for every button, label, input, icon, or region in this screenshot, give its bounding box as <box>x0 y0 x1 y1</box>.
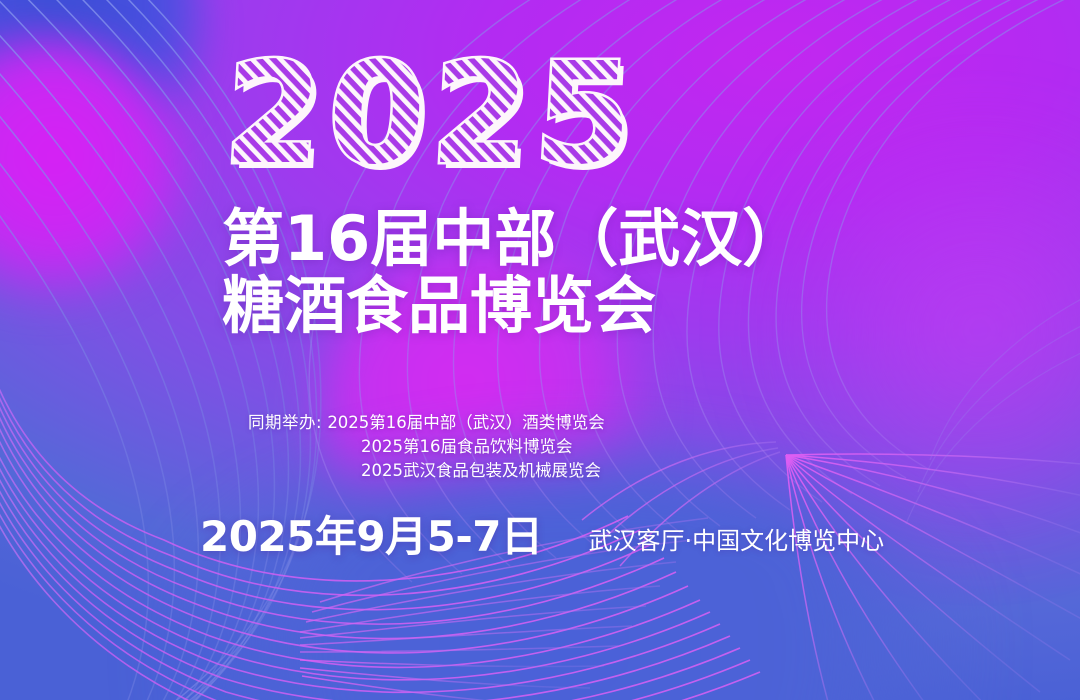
year-logo-text: 2025 <box>228 52 643 192</box>
year-logo-2025: 2025 2025 <box>228 52 678 192</box>
concurrent-row-1: 同期举办: 2025第16届中部（武汉）酒类博览会 <box>248 411 948 435</box>
event-date: 2025年9月5-7日 <box>200 514 543 560</box>
concurrent-item-2: 2025第16届食品饮料博览会 <box>361 437 573 456</box>
event-venue: 武汉客厅·中国文化博览中心 <box>589 526 885 556</box>
concurrent-item-3: 2025武汉食品包装及机械展览会 <box>361 461 601 480</box>
event-poster: 2025 2025 第16届中部（武汉） 糖酒食品博览会 同期举办: 2025第… <box>0 0 1080 700</box>
concurrent-row-3: 2025武汉食品包装及机械展览会 <box>248 459 948 483</box>
poster-content: 2025 2025 第16届中部（武汉） 糖酒食品博览会 同期举办: 2025第… <box>0 0 1080 700</box>
event-footer: 2025年9月5-7日 武汉客厅·中国文化博览中心 <box>200 514 1030 560</box>
concurrent-row-2: 2025第16届食品饮料博览会 <box>248 435 948 459</box>
concurrent-item-1: 2025第16届中部（武汉）酒类博览会 <box>327 413 605 432</box>
title-line-1: 第16届中部（武汉） <box>222 206 922 273</box>
concurrent-events-block: 同期举办: 2025第16届中部（武汉）酒类博览会 2025第16届食品饮料博览… <box>248 411 948 483</box>
page-title: 第16届中部（武汉） 糖酒食品博览会 <box>222 206 922 340</box>
title-line-2: 糖酒食品博览会 <box>222 273 922 340</box>
concurrent-label: 同期举办: <box>248 413 322 432</box>
